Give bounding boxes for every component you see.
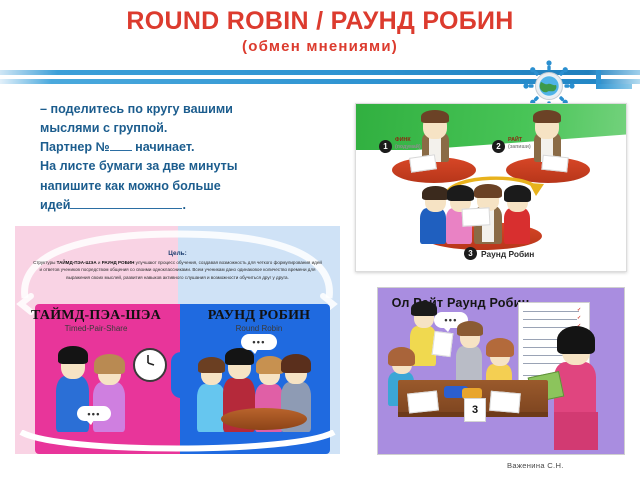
right-speech-bubble: ••• xyxy=(241,334,277,350)
instruction-line-5: напишите как можно больше xyxy=(40,177,340,196)
step-label-2: РАЙТ (запиши) xyxy=(508,137,531,150)
right-person-3-hair xyxy=(256,356,284,374)
ideas-count-blank[interactable] xyxy=(70,197,182,209)
illustration-three-steps: 1 ФИНК (подумай) 2 РАЙТ (запиши) xyxy=(355,103,627,272)
right-person-1-body xyxy=(197,384,225,432)
seated-boy-mid-hair xyxy=(457,321,483,336)
goal-pre: Структуры xyxy=(33,260,57,265)
paper-step2 xyxy=(541,155,568,173)
clock-icon xyxy=(133,348,167,382)
seated-girl-left-hair xyxy=(388,347,415,366)
step-badge-2: 2 xyxy=(492,140,505,153)
partner-number-blank[interactable] xyxy=(110,139,132,151)
left-heading-block: ТАЙМД-ПЭА-ШЭА Timed-Pair-Share xyxy=(15,304,177,344)
page-subtitle: (обмен мнениями) xyxy=(0,38,640,55)
hair-step2 xyxy=(533,110,561,123)
hair-group-b xyxy=(447,185,474,201)
step-label-1: ФИНК (подумай) xyxy=(395,137,421,150)
desk-paper-right xyxy=(489,391,521,414)
step-2-title: РАЙТ xyxy=(508,137,531,144)
page-title: ROUND ROBIN / РАУНД РОБИН xyxy=(0,8,640,35)
right-person-1-hair xyxy=(198,357,225,373)
step-1-sub: (подумай) xyxy=(395,144,421,151)
desk-paper-left xyxy=(407,390,439,413)
right-structure-name-ru: РАУНД РОБИН xyxy=(178,308,340,324)
hair-step1 xyxy=(421,110,449,123)
left-boy-hair xyxy=(58,346,88,364)
instruction-line-1: – поделитесь по кругу вашими xyxy=(40,100,340,119)
body-group-d xyxy=(504,208,530,244)
seated-girl-right-hair xyxy=(486,338,514,357)
instruction-partner-label: Партнер № xyxy=(40,140,110,154)
teacher-hair xyxy=(557,326,595,354)
illustration-all-write-round-robin: Ол Райт Раунд Робин ✓ ✓ ✓ ✓ ••• xyxy=(377,287,625,455)
standing-boy-hair xyxy=(411,301,437,316)
right-person-4-hair xyxy=(281,354,311,373)
instruction-ideas-label: идей xyxy=(40,198,70,212)
goal-term-1: ТАЙМД-ПЭА-ШЭА xyxy=(57,260,97,265)
lower-arc-decoration xyxy=(19,430,336,454)
step-1-title: ФИНК xyxy=(395,137,421,144)
hair-group-d xyxy=(504,185,531,202)
hair-group-c xyxy=(474,184,502,198)
instructions-block: – поделитесь по кругу вашими мыслями с г… xyxy=(40,100,340,215)
hair-group-a xyxy=(422,186,449,200)
goal-term-2: РАУНД РОБИН xyxy=(102,260,135,265)
left-structure-name-en: Timed-Pair-Share xyxy=(15,324,177,333)
puzzle-pieces: ТАЙМД-ПЭА-ШЭА Timed-Pair-Share РАУНД РОБ… xyxy=(15,304,340,454)
left-speech-bubble: ••• xyxy=(77,406,111,421)
instruction-line-4: На листе бумаги за две минуты xyxy=(40,157,340,176)
right-structure-name-en: Round Robin xyxy=(178,324,340,333)
standing-boy-paper xyxy=(432,331,454,357)
goal-heading: Цель: xyxy=(15,250,340,257)
left-girl-hair xyxy=(94,354,125,374)
slide-root: ROUND ROBIN / РАУНД РОБИН (обмен мнениям… xyxy=(0,0,640,480)
step-badge-3: 3 xyxy=(464,247,477,260)
step-badge-1: 1 xyxy=(379,140,392,153)
illustration-content: 1 ФИНК (подумай) 2 РАЙТ (запиши) xyxy=(356,104,626,271)
left-structure-name-ru: ТАЙМД-ПЭА-ШЭА xyxy=(15,308,177,324)
goal-paragraph: Структуры ТАЙМД-ПЭА-ШЭА и РАУНД РОБИН ул… xyxy=(33,259,322,281)
table-number-card: 3 xyxy=(464,398,486,422)
seated-boy-mid-body xyxy=(456,346,482,384)
instruction-period: . xyxy=(182,198,186,212)
author-credit: Важенина С.Н. xyxy=(507,461,564,470)
slide-title-block: ROUND ROBIN / РАУНД РОБИН (обмен мнениям… xyxy=(0,8,640,55)
instruction-partner-starts: начинает. xyxy=(135,140,194,154)
illustration-caption: 3 Раунд Робин xyxy=(464,247,534,260)
instruction-line-6: идей. xyxy=(40,196,340,215)
right-round-table xyxy=(221,408,307,430)
caption-text: Раунд Робин xyxy=(481,249,534,259)
instruction-line-3: Партнер № начинает. xyxy=(40,138,340,157)
instruction-line-2: мыслями с группой. xyxy=(40,119,340,138)
paper-group xyxy=(462,207,491,226)
divider-bar-tail xyxy=(596,84,632,89)
body-group-a xyxy=(420,208,446,244)
infographic-comparison: Цель: Структуры ТАЙМД-ПЭА-ШЭА и РАУНД РО… xyxy=(15,226,340,454)
step-2-sub: (запиши) xyxy=(508,144,531,151)
teacher-skirt xyxy=(554,412,598,450)
left-boy-body xyxy=(56,376,89,432)
